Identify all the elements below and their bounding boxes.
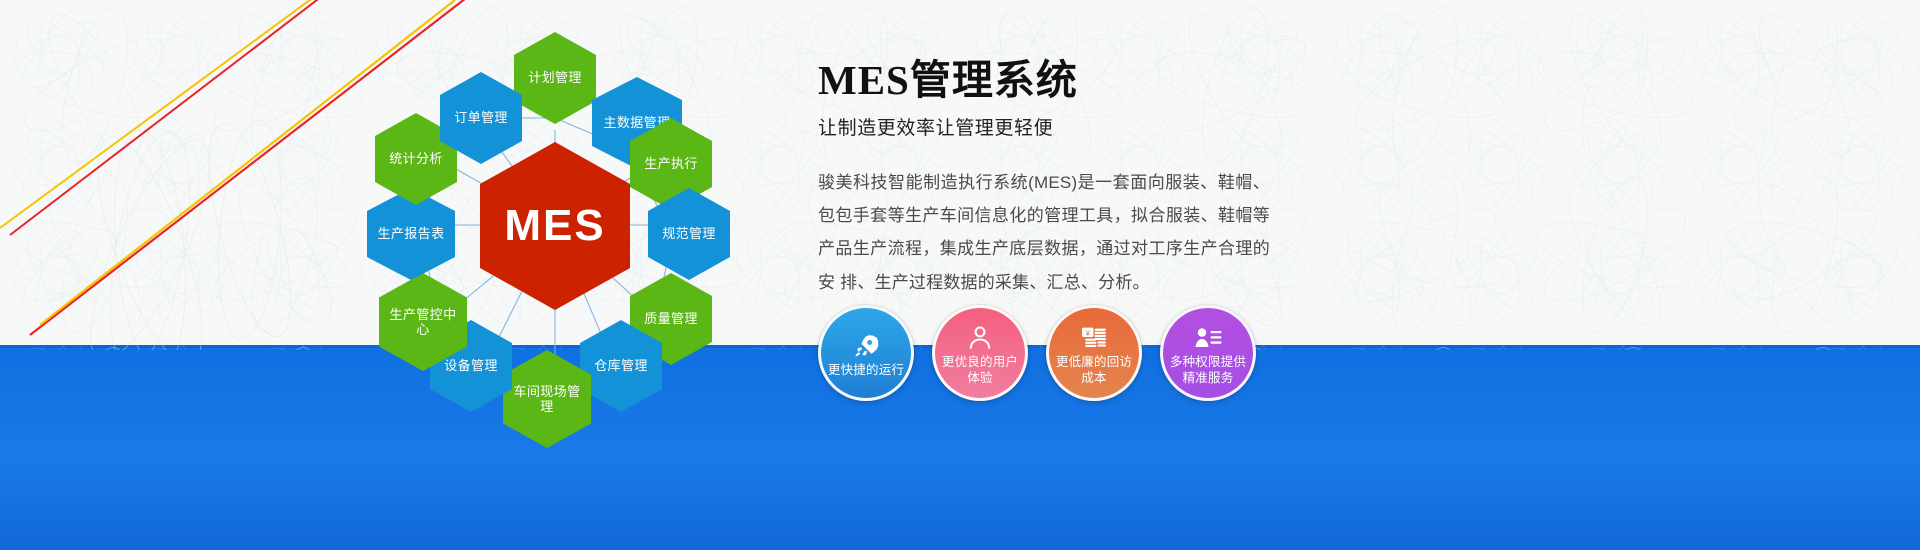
user-icon: [967, 325, 993, 351]
badge-better-user-experience[interactable]: 更优良的用户体验: [932, 305, 1028, 401]
hex-node-label: 生产执行: [644, 156, 698, 171]
badge-label: 更快捷的运行: [822, 362, 910, 378]
hex-node-label: 设备管理: [444, 358, 498, 373]
svg-text:¥: ¥: [1085, 328, 1090, 337]
badge-faster-operation[interactable]: 更快捷的运行: [818, 305, 914, 401]
badge-label: 多种权限提供精准服务: [1163, 354, 1253, 386]
rocket-icon: [853, 333, 879, 359]
hex-node-label: 生产报告表: [377, 226, 444, 241]
hex-node-label: 订单管理: [454, 110, 508, 125]
hex-node-label: 车间现场管理: [503, 384, 591, 415]
badge-multi-permission-service[interactable]: 多种权限提供精准服务: [1160, 305, 1256, 401]
badge-label: 更优良的用户体验: [935, 354, 1025, 386]
mes-banner: 计划管理 主数据管理 生产执行 规范管理 质量管理 仓库管理 车间现场管理 设备…: [0, 0, 1920, 550]
hex-node-label: 仓库管理: [594, 358, 648, 373]
page-subtitle: 让制造更效率让管理更轻便: [818, 113, 1288, 140]
hex-center-label: MES: [504, 200, 605, 252]
page-description: 骏美科技智能制造执行系统(MES)是一套面向服装、鞋帽、包包手套等生产车间信息化…: [818, 166, 1270, 299]
hex-node-label: 统计分析: [389, 151, 443, 166]
page-title: MES管理系统: [818, 58, 1288, 103]
mes-hex-diagram: 计划管理 主数据管理 生产执行 规范管理 质量管理 仓库管理 车间现场管理 设备…: [330, 10, 780, 450]
user-list-icon: [1194, 325, 1222, 351]
money-icon: ¥: [1081, 325, 1108, 351]
hex-node-label: 计划管理: [528, 70, 582, 85]
hex-node-label: 质量管理: [644, 311, 698, 326]
feature-badges: 更快捷的运行 更优良的用户体验 ¥: [818, 305, 1256, 401]
hex-node-label: 规范管理: [662, 226, 716, 241]
badge-lower-revisit-cost[interactable]: ¥ 更低廉的回访成本: [1046, 305, 1142, 401]
badge-label: 更低廉的回访成本: [1049, 354, 1139, 386]
hex-node-label: 生产管控中心: [379, 307, 467, 338]
banner-text-column: MES管理系统 让制造更效率让管理更轻便 骏美科技智能制造执行系统(MES)是一…: [818, 58, 1288, 299]
